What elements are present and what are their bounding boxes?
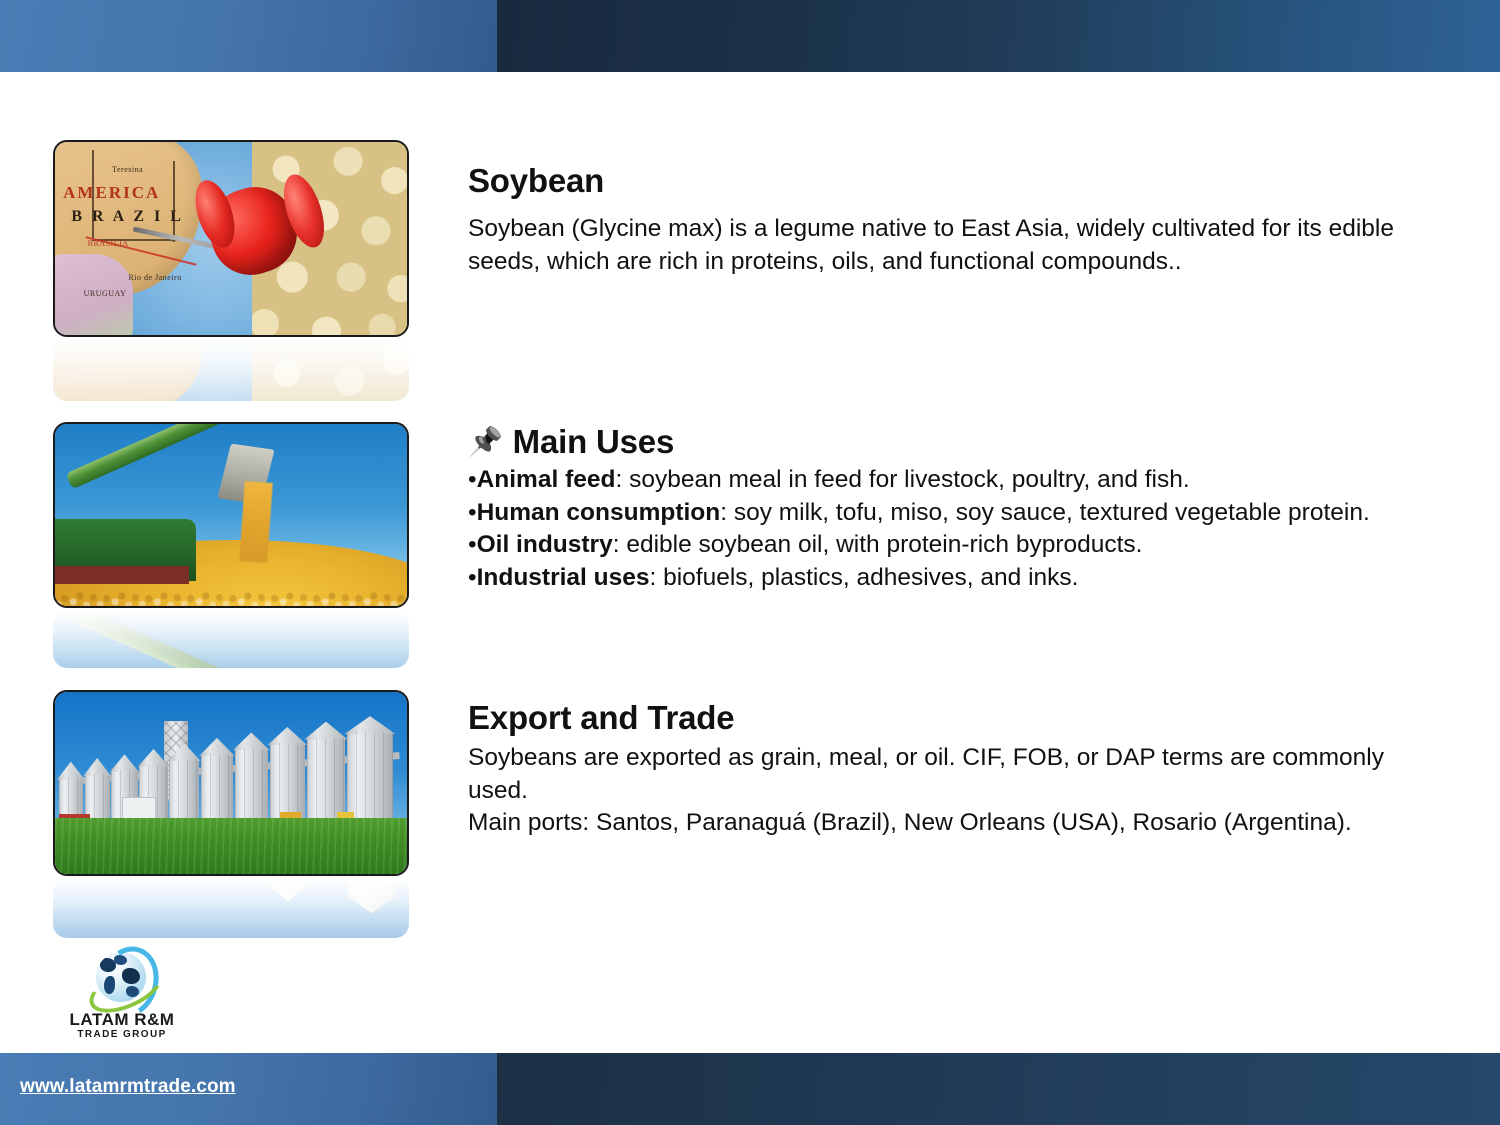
page-title: Soybean: [468, 163, 1408, 199]
grass-field: [55, 818, 407, 874]
grain-stream: [239, 481, 273, 563]
footer-band-right: [497, 1053, 1500, 1125]
map-border-line: [173, 161, 175, 242]
list-item-text: : soy milk, tofu, miso, soy sauce, textu…: [720, 499, 1370, 526]
list-item-term: Human consumption: [477, 499, 721, 526]
bullet-marker: •: [468, 466, 477, 493]
list-item-text: : biofuels, plastics, adhesives, and ink…: [650, 564, 1079, 591]
map-city-label: Rio de Janeiro: [128, 273, 181, 282]
globe-icon: [86, 948, 158, 1010]
main-uses-heading: 📌 Main Uses: [468, 424, 1408, 460]
website-link[interactable]: www.latamrmtrade.com: [20, 1076, 236, 1098]
list-item-text: : soybean meal in feed for livestock, po…: [615, 466, 1189, 493]
section-soybean: Soybean Soybean (Glycine max) is a legum…: [468, 163, 1408, 278]
grain-silos-image: [53, 690, 409, 876]
section-main-uses: 📌 Main Uses •Animal feed: soybean meal i…: [468, 424, 1408, 595]
logo-company-subtitle: TRADE GROUP: [62, 1029, 182, 1040]
section-export-and-trade: Export and Trade Soybeans are exported a…: [468, 700, 1408, 840]
photo-reflection: [53, 339, 409, 401]
company-logo: LATAM R&M TRADE GROUP: [62, 948, 182, 1040]
soybean-map-pushpin-photo: Teresina AMERICA B R A Z I L BRASILIA Ri…: [53, 140, 409, 401]
main-uses-title: Main Uses: [513, 424, 674, 460]
map-capital-label: BRASILIA: [88, 239, 129, 248]
ground-building: [122, 797, 156, 819]
bullet-marker: •: [468, 499, 477, 526]
grain-texture: [53, 584, 409, 606]
list-item-term: Animal feed: [477, 466, 616, 493]
list-item: •Human consumption: soy milk, tofu, miso…: [468, 497, 1408, 530]
harvester-grain-image: [53, 422, 409, 608]
silo: [169, 759, 199, 817]
silo: [347, 732, 393, 818]
map-region-label: AMERICA: [63, 183, 160, 203]
header-band-right: [497, 0, 1500, 72]
main-ports-paragraph: Main ports: Santos, Paranaguá (Brazil), …: [468, 807, 1408, 840]
silo: [201, 754, 233, 818]
silo: [59, 778, 84, 818]
photo-reflection: [53, 610, 409, 668]
grain-silos-photo: [53, 690, 409, 938]
soybean-map-pushpin-image: Teresina AMERICA B R A Z I L BRASILIA Ri…: [53, 140, 409, 337]
list-item-term: Oil industry: [477, 531, 613, 558]
bullet-marker: •: [468, 531, 477, 558]
silo: [85, 774, 110, 818]
photo-reflection: [53, 878, 409, 938]
silo: [307, 738, 346, 818]
presentation-slide: Teresina AMERICA B R A Z I L BRASILIA Ri…: [0, 0, 1500, 1125]
bullet-marker: •: [468, 564, 477, 591]
list-item: •Industrial uses: biofuels, plastics, ad…: [468, 562, 1408, 595]
export-terms-paragraph: Soybeans are exported as grain, meal, or…: [468, 742, 1408, 807]
soybean-description: Soybean (Glycine max) is a legume native…: [468, 213, 1408, 278]
map-city-label: Teresina: [112, 165, 143, 174]
list-item: •Oil industry: edible soybean oil, with …: [468, 529, 1408, 562]
silo: [235, 748, 268, 817]
map-country-label: B R A Z I L: [71, 208, 184, 226]
export-and-trade-title: Export and Trade: [468, 700, 1408, 736]
harvester-grain-photo: [53, 422, 409, 668]
list-item-text: : edible soybean oil, with protein-rich …: [613, 531, 1143, 558]
map-country-label: URUGUAY: [84, 289, 127, 298]
silo: [270, 743, 305, 818]
main-uses-list: •Animal feed: soybean meal in feed for l…: [468, 464, 1408, 594]
header-band: [0, 0, 1500, 72]
pushpin-icon: 📌: [468, 428, 503, 456]
list-item: •Animal feed: soybean meal in feed for l…: [468, 464, 1408, 497]
list-item-term: Industrial uses: [477, 564, 650, 591]
harvester-chassis: [53, 566, 189, 584]
header-band-left: [0, 0, 497, 72]
